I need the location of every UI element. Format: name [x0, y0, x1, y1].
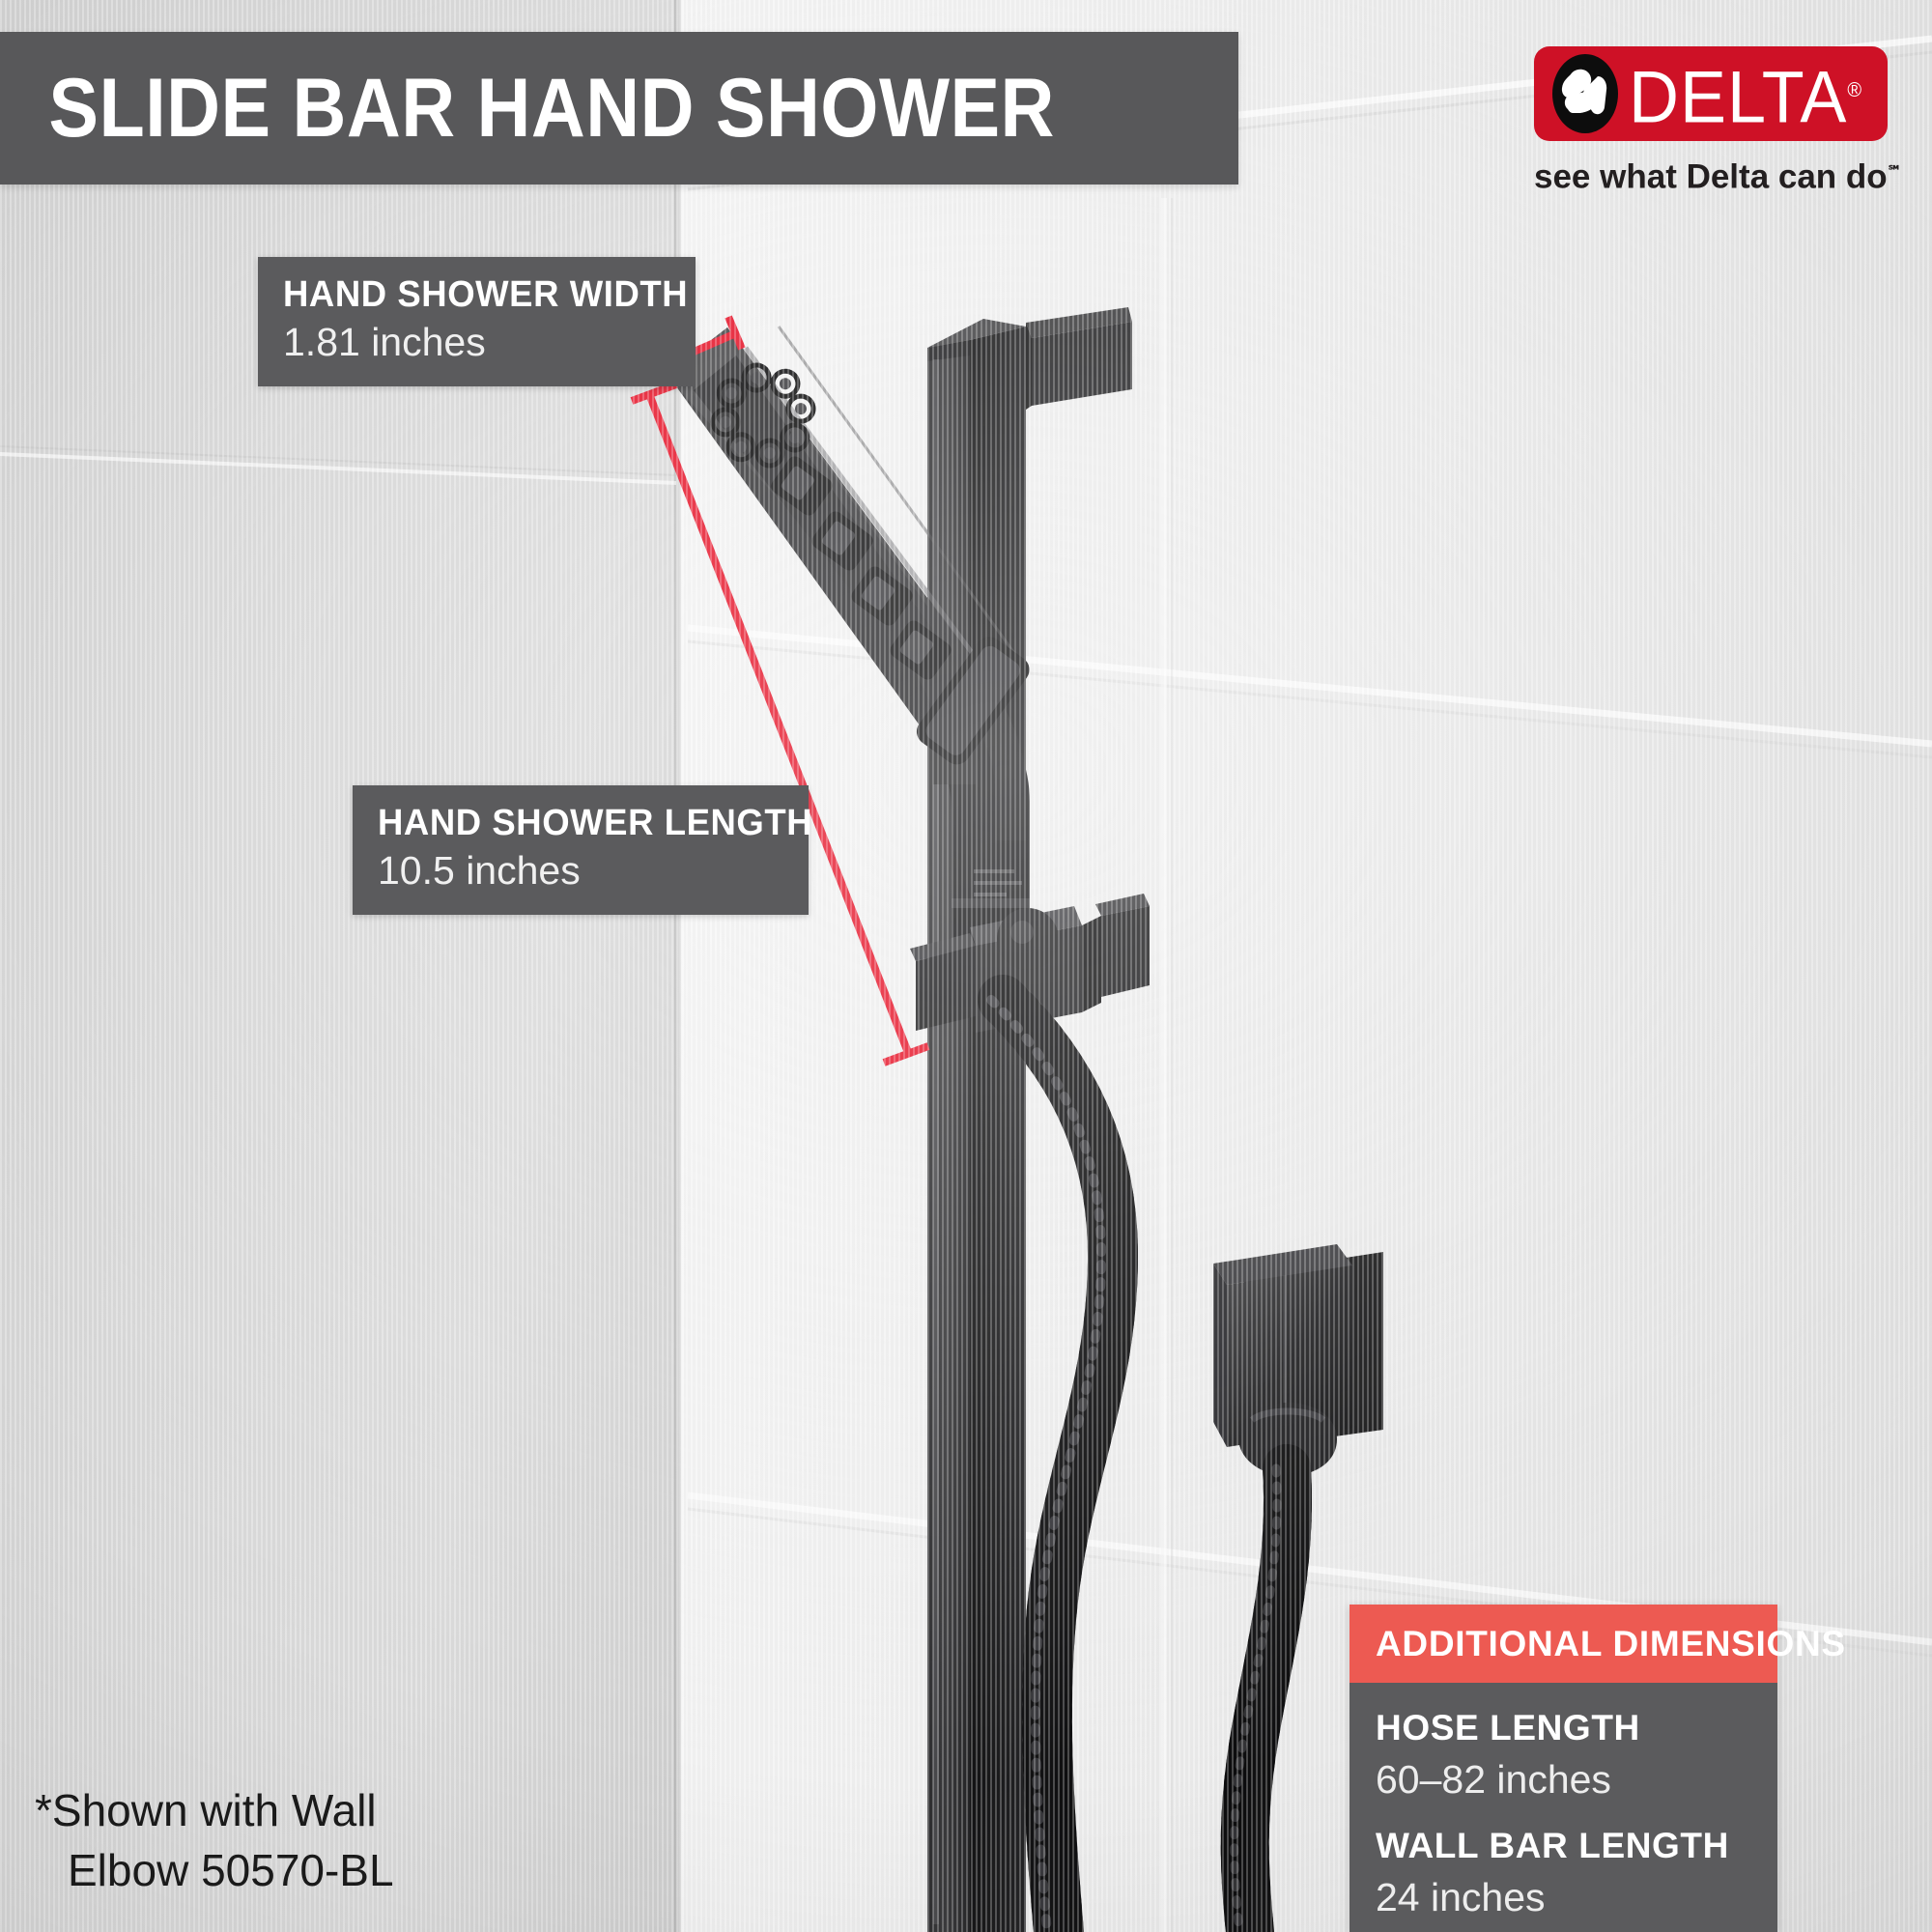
- registered-mark-icon: ®: [1847, 79, 1861, 101]
- callout-title: HAND SHOWER LENGTH: [378, 801, 767, 845]
- callout-value: 1.81 inches: [283, 317, 670, 367]
- callout-value: 10.5 inches: [378, 845, 783, 895]
- brand-tagline: see what Delta can do℠: [1534, 155, 1888, 194]
- dimension-label: HOSE LENGTH: [1376, 1704, 1751, 1752]
- callout-hand-shower-width: HAND SHOWER WIDTH 1.81 inches: [258, 257, 696, 386]
- footnote: *Shown with Wall Elbow 50570-BL: [35, 1780, 537, 1900]
- callout-title: HAND SHOWER WIDTH: [283, 272, 655, 317]
- logo-wordmark: DELTA®: [1629, 53, 1861, 134]
- footnote-line-2: Elbow 50570-BL: [35, 1840, 537, 1900]
- dimension-value: 24 inches: [1376, 1870, 1751, 1924]
- footnote-line-1: *Shown with Wall: [35, 1780, 537, 1840]
- dimension-item-wall-bar-length: WALL BAR LENGTH 24 inches: [1376, 1822, 1751, 1924]
- flexible-hose-right: [1235, 1468, 1288, 1932]
- slide-bar-side: [970, 327, 1026, 1932]
- additional-dimensions-body: HOSE LENGTH 60–82 inches WALL BAR LENGTH…: [1350, 1683, 1777, 1932]
- page-title: SLIDE BAR HAND SHOWER: [0, 67, 1055, 150]
- callout-hand-shower-length: HAND SHOWER LENGTH 10.5 inches: [353, 785, 809, 915]
- product-dimension-diagram: SLIDE BAR HAND SHOWER DELTA® see what De…: [0, 0, 1932, 1932]
- upper-wall-bracket: [1026, 307, 1132, 410]
- title-banner: SLIDE BAR HAND SHOWER: [0, 32, 1238, 185]
- service-mark-icon: ℠: [1888, 163, 1902, 180]
- additional-dimensions-panel: ADDITIONAL DIMENSIONS HOSE LENGTH 60–82 …: [1350, 1605, 1777, 1932]
- dimension-value: 60–82 inches: [1376, 1752, 1751, 1806]
- wall-elbow: [1213, 1244, 1383, 1476]
- delta-triangle-logo-icon: [1551, 53, 1619, 134]
- logo-red-plate: DELTA®: [1534, 46, 1888, 141]
- additional-dimensions-heading: ADDITIONAL DIMENSIONS: [1350, 1605, 1777, 1683]
- dimension-item-hose-length: HOSE LENGTH 60–82 inches: [1376, 1704, 1751, 1806]
- dimension-label: WALL BAR LENGTH: [1376, 1822, 1751, 1870]
- brand-logo: DELTA® see what Delta can do℠: [1534, 46, 1889, 194]
